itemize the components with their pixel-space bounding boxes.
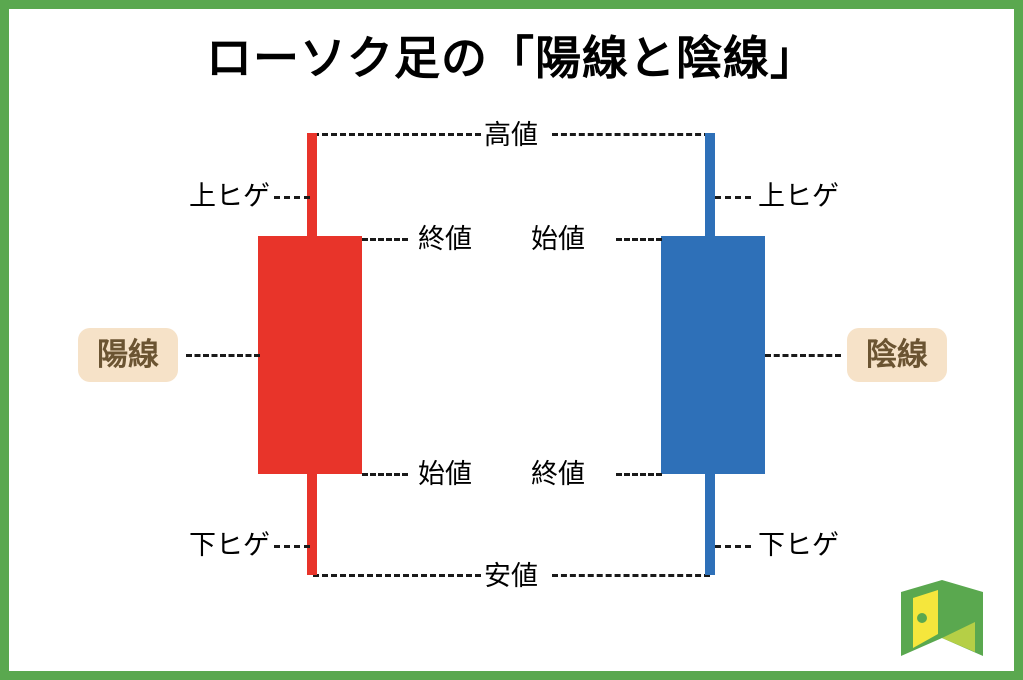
label-bullish-lower-wick: 下ヒゲ: [189, 532, 270, 559]
label-bearish-open: 始値: [531, 226, 585, 253]
bearish-lower-wick-leader-line: [715, 545, 751, 548]
badge-bullish: 陽線: [78, 328, 178, 382]
low-leader-line-left: [313, 574, 481, 577]
bullish-close-leader-line: [362, 238, 408, 241]
low-leader-line-right: [552, 574, 710, 577]
high-leader-line-left: [313, 133, 481, 136]
site-logo: [897, 578, 987, 660]
bullish-badge-leader-line: [186, 354, 260, 357]
bullish-candle-body: [258, 236, 362, 474]
label-bullish-upper-wick: 上ヒゲ: [189, 183, 270, 210]
open-book-door-icon: [897, 578, 987, 660]
bullish-open-leader-line: [362, 473, 408, 476]
label-bearish-lower-wick: 下ヒゲ: [758, 532, 839, 559]
label-bullish-close: 終値: [418, 226, 472, 253]
high-leader-line-right: [552, 133, 710, 136]
bearish-close-leader-line: [616, 473, 662, 476]
page-title: ローソク足の「陽線と陰線」: [0, 22, 1023, 88]
label-high: 高値: [484, 122, 538, 149]
bearish-upper-wick-leader-line: [715, 196, 751, 199]
bearish-candle-body: [661, 236, 765, 474]
label-low: 安値: [484, 563, 538, 590]
bearish-badge-leader-line: [765, 354, 841, 357]
label-bullish-open: 始値: [418, 461, 472, 488]
bearish-open-leader-line: [616, 238, 662, 241]
label-bearish-upper-wick: 上ヒゲ: [758, 183, 839, 210]
label-bearish-close: 終値: [531, 461, 585, 488]
badge-bearish: 陰線: [847, 328, 947, 382]
candlestick-diagram: ローソク足の「陽線と陰線」 高値 安値 上ヒゲ 終値 始値 下ヒゲ 陽線 上ヒゲ…: [0, 0, 1023, 680]
bullish-lower-wick-leader-line: [274, 545, 310, 548]
bullish-upper-wick-leader-line: [274, 196, 310, 199]
